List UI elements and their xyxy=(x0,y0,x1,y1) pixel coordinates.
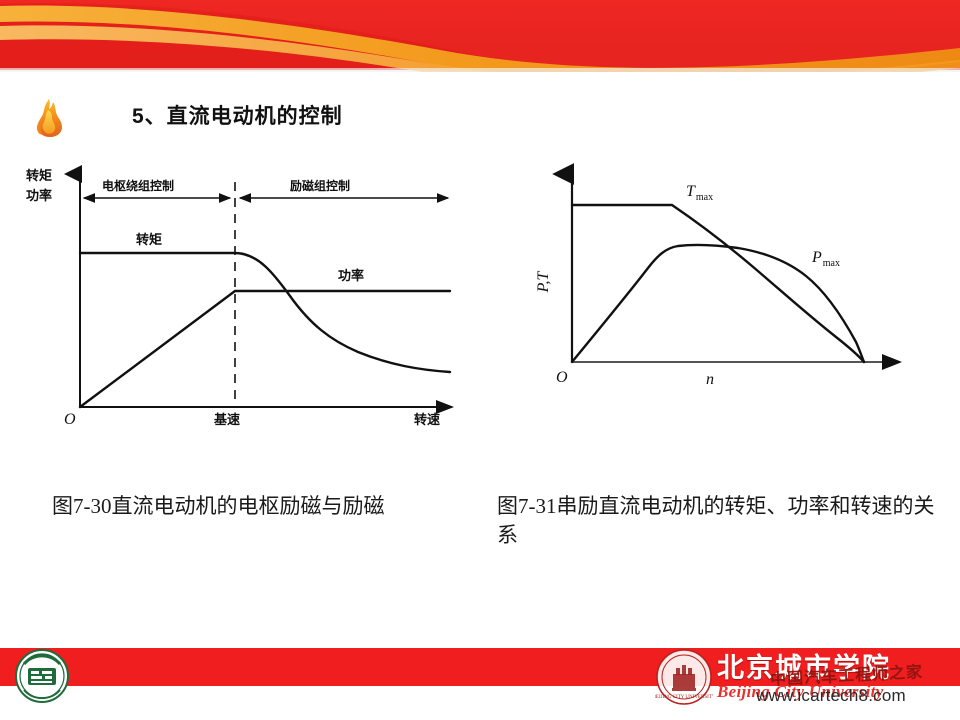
curve-label-tmax: Tmax xyxy=(686,183,713,203)
region-label-field: 励磁组控制 xyxy=(290,178,350,193)
figure-caption-7-30: 图7-30直流电动机的电枢励磁与励磁 xyxy=(52,492,502,521)
title-row: 5、直流电动机的控制 xyxy=(22,96,542,142)
base-speed-label: 基速 xyxy=(213,412,240,427)
header-banner xyxy=(0,0,960,72)
curve-label-pmax: Pmax xyxy=(811,249,840,269)
figure-caption-7-31: 图7-31串励直流电动机的转矩、功率和转速的关系 xyxy=(497,492,947,550)
chart-p-t-vs-n: P,T Tmax Pmax O n xyxy=(500,152,930,414)
origin-label: O xyxy=(556,369,568,386)
y-axis-label: P,T xyxy=(535,271,552,294)
x-axis-label: n xyxy=(706,371,714,388)
x-axis-label: 转速 xyxy=(414,412,440,427)
origin-label: O xyxy=(64,411,76,428)
flame-icon xyxy=(28,96,72,140)
curve-label-power: 功率 xyxy=(338,268,364,283)
svg-text:BEIJING CITY UNIVERSITY: BEIJING CITY UNIVERSITY xyxy=(655,695,713,700)
curve-tmax xyxy=(572,205,864,362)
chart-torque-power-vs-speed: 转矩 功率 电枢绕组控制 励磁组控制 转矩 功率 O 基速 转速 xyxy=(18,152,488,422)
green-circular-seal-icon xyxy=(14,648,70,704)
page-title: 5、直流电动机的控制 xyxy=(132,100,343,130)
watermark-url: www.icartech8.com xyxy=(756,686,906,706)
banner-bottom-edge xyxy=(0,68,960,72)
curve-torque xyxy=(80,253,450,372)
y-axis-label-line1: 转矩 xyxy=(26,168,52,183)
region-label-armature: 电枢绕组控制 xyxy=(102,178,174,193)
beijing-city-university-crest-icon: BEIJING CITY UNIVERSITY xyxy=(655,648,713,706)
curve-label-torque: 转矩 xyxy=(136,232,162,247)
curve-power xyxy=(80,291,450,407)
slide-root: 5、直流电动机的控制 转矩 功率 xyxy=(0,0,960,720)
y-axis-label-line2: 功率 xyxy=(26,188,52,203)
